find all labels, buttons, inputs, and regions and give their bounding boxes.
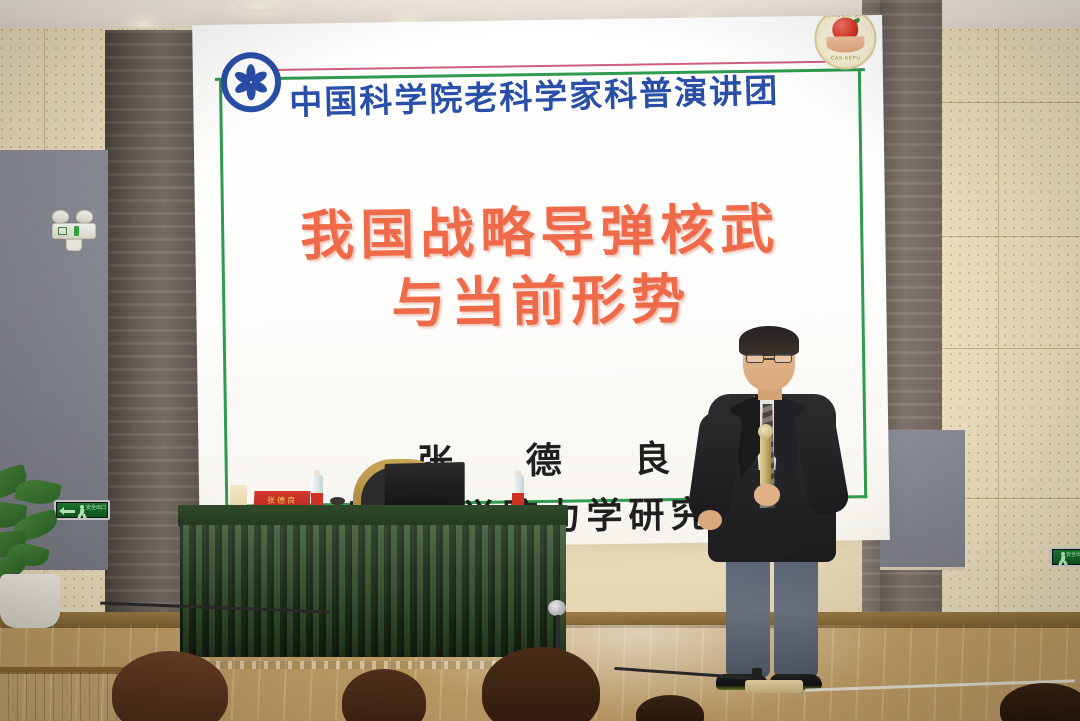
speaker-legs xyxy=(720,554,824,686)
table-skirt xyxy=(180,525,566,657)
apple-emblem-logo: 中国科学院老科学家科普演讲团 CAS-KEPU xyxy=(814,15,877,70)
slide-organization-title: 中国科学院老科学家科普演讲团 xyxy=(289,64,780,124)
ceiling-downlight xyxy=(236,2,280,12)
speaker-person xyxy=(690,332,855,692)
speaker-hand-right xyxy=(754,484,780,506)
computer-mouse xyxy=(330,497,345,505)
speaker-hair xyxy=(739,326,799,356)
apple-logo-bottom-text: CAS-KEPU xyxy=(817,55,875,62)
hands-icon xyxy=(826,36,864,53)
water-bottle xyxy=(512,475,524,509)
speaker-hand-left xyxy=(698,510,722,530)
water-bottle xyxy=(311,475,323,509)
laptop-screen xyxy=(385,462,465,510)
emergency-light xyxy=(52,210,98,244)
slide-main-title: 我国战略导弹核武 与当前形势 xyxy=(195,193,887,341)
microphone-head-icon xyxy=(758,424,773,439)
exit-sign-right: 安全出口 xyxy=(1050,547,1080,567)
exit-sign-label: 安全出口 xyxy=(1066,553,1080,558)
grey-wall-panel-right xyxy=(880,430,965,570)
presenter-table: 张德良 xyxy=(178,505,568,665)
power-strip xyxy=(745,680,803,693)
slide-title-line1: 我国战略导弹核武 xyxy=(300,197,781,267)
flower-pot xyxy=(0,574,60,628)
table-top xyxy=(178,505,568,527)
floor-microphone-head xyxy=(548,600,566,616)
eyeglasses-icon xyxy=(746,354,792,363)
potted-plant xyxy=(0,470,102,630)
cas-logo xyxy=(221,52,282,113)
lecture-hall-photo: 安全出口 安全出口 xyxy=(0,0,1080,721)
